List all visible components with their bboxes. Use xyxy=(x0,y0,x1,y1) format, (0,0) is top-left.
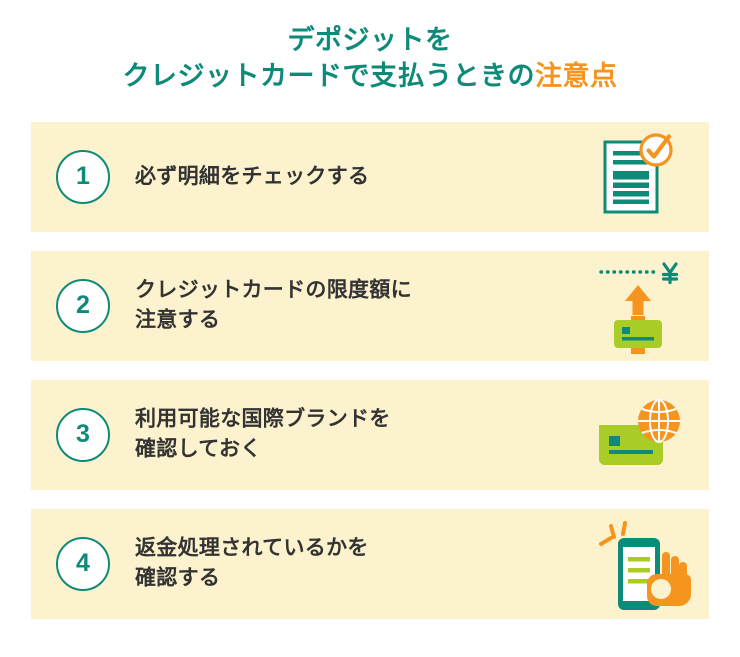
title-line-1: デポジットを xyxy=(0,22,740,58)
phone-ok-hand-icon xyxy=(587,516,691,612)
list-item: 4 返金処理されているかを 確認する xyxy=(31,509,709,619)
tip-text-line: 注意する xyxy=(135,306,412,336)
list-item: 3 利用可能な国際ブランドを 確認しておく xyxy=(31,380,709,490)
list-item: 1 必ず明細をチェックする xyxy=(31,122,709,232)
title-main-text: クレジットカードで支払うときの xyxy=(123,61,536,91)
list-item: 2 クレジットカードの限度額に 注意する xyxy=(31,251,709,361)
step-number: 4 xyxy=(76,551,90,578)
tips-list: 1 必ず明細をチェックする xyxy=(31,122,709,619)
tip-text-line: 確認する xyxy=(135,564,369,594)
step-number: 3 xyxy=(76,422,90,449)
tip-text-line: 利用可能な国際ブランドを xyxy=(135,405,391,435)
step-badge-2: 2 xyxy=(56,279,110,333)
step-number: 1 xyxy=(76,164,90,191)
card-globe-icon xyxy=(587,387,691,483)
step-number: 2 xyxy=(76,293,90,320)
card-limit-yen-icon xyxy=(587,258,691,354)
tip-text-line: クレジットカードの限度額に xyxy=(135,276,412,306)
step-badge-4: 4 xyxy=(56,537,110,591)
title-accent-text: 注意点 xyxy=(535,61,618,91)
tip-text-3: 利用可能な国際ブランドを 確認しておく xyxy=(135,405,391,466)
page-title: デポジットを クレジットカードで支払うときの注意点 xyxy=(0,22,740,95)
document-check-icon xyxy=(587,129,691,225)
title-line-2: クレジットカードで支払うときの注意点 xyxy=(0,58,740,94)
tip-text-1: 必ず明細をチェックする xyxy=(135,162,369,192)
step-badge-1: 1 xyxy=(56,150,110,204)
tip-text-line: 返金処理されているかを xyxy=(135,534,369,564)
infographic-page: デポジットを クレジットカードで支払うときの注意点 1 必ず明細をチェックする xyxy=(0,0,740,657)
tip-text-line: 必ず明細をチェックする xyxy=(135,162,369,192)
step-badge-3: 3 xyxy=(56,408,110,462)
tip-text-line: 確認しておく xyxy=(135,435,391,465)
tip-text-4: 返金処理されているかを 確認する xyxy=(135,534,369,595)
tip-text-2: クレジットカードの限度額に 注意する xyxy=(135,276,412,337)
